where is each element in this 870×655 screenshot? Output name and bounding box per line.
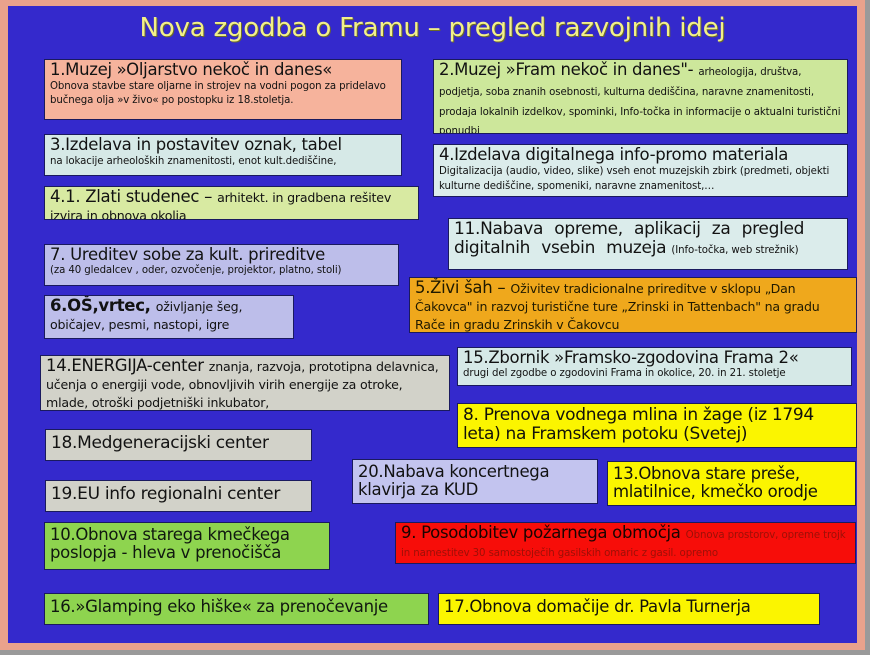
idea-box-11[interactable]: 11.Nabava opreme, aplikacij za pregled d… <box>448 218 848 270</box>
idea-box-9-heading: 9. Posodobitev požarnega območja <box>401 523 681 542</box>
idea-box-1-sub: Obnova stavbe stare oljarne in strojev n… <box>50 80 396 108</box>
idea-box-13-heading: 13.Obnova stare preše, mlatilnice, kmečk… <box>613 464 818 501</box>
idea-box-15-heading: 15.Zbornik »Framsko-zgodovina Frama 2« <box>463 348 799 367</box>
idea-box-7-heading: 7. Ureditev sobe za kult. prireditve <box>50 245 325 264</box>
idea-box-2[interactable]: 2.Muzej »Fram nekoč in danes"- arheologi… <box>433 59 848 134</box>
idea-box-20[interactable]: 20.Nabava koncertnega klavirja za KUD <box>352 459 598 504</box>
idea-box-5-heading: 5.Živi šah – <box>415 278 505 297</box>
slide-board: Nova zgodba o Framu – pregled razvojnih … <box>8 6 857 643</box>
idea-box-4-sub: Digitalizacija (audio, video, slike) vse… <box>439 165 842 195</box>
idea-box-3-heading: 3.Izdelava in postavitev oznak, tabel <box>50 135 342 154</box>
idea-box-17[interactable]: 17.Obnova domačije dr. Pavla Turnerja <box>438 593 820 625</box>
idea-box-8[interactable]: 8. Prenova vodnega mlina in žage (iz 179… <box>457 403 857 448</box>
idea-box-16-heading: 16.»Glamping eko hiške« za prenočevanje <box>50 597 388 616</box>
idea-box-2-heading: 2.Muzej »Fram nekoč in danes"- <box>439 60 693 79</box>
idea-box-19-heading: 19.EU info regionalni center <box>51 484 280 504</box>
idea-box-16[interactable]: 16.»Glamping eko hiške« za prenočevanje <box>44 593 429 625</box>
idea-box-5[interactable]: 5.Živi šah – Oživitev tradicionalne prir… <box>409 277 857 333</box>
idea-box-6[interactable]: 6.OŠ,vrtec, oživljanje šeg, običajev, pe… <box>44 295 294 339</box>
idea-box-14[interactable]: 14.ENERGIJA-center znanja, razvoja, prot… <box>40 355 450 411</box>
idea-box-15-sub: drugi del zgodbe o zgodovini Frama in ok… <box>463 368 846 379</box>
idea-box-1-heading: 1.Muzej »Oljarstvo nekoč in danes« <box>50 60 332 79</box>
idea-box-20-heading: 20.Nabava koncertnega klavirja za KUD <box>358 462 549 499</box>
idea-box-7[interactable]: 7. Ureditev sobe za kult. prireditve (za… <box>44 244 399 286</box>
idea-box-13[interactable]: 13.Obnova stare preše, mlatilnice, kmečk… <box>607 461 856 506</box>
idea-box-7-sub: (za 40 gledalcev , oder, ozvočenje, proj… <box>50 265 393 276</box>
idea-box-17-heading: 17.Obnova domačije dr. Pavla Turnerja <box>444 597 751 616</box>
idea-box-19[interactable]: 19.EU info regionalni center <box>45 480 312 512</box>
idea-box-4-1-heading: 4.1. Zlati studenec – <box>50 187 212 206</box>
idea-box-1[interactable]: 1.Muzej »Oljarstvo nekoč in danes« Obnov… <box>44 59 402 120</box>
idea-box-18-heading: 18.Medgeneracijski center <box>51 433 269 453</box>
slide-canvas: Nova zgodba o Framu – pregled razvojnih … <box>0 0 870 655</box>
idea-box-14-heading: 14.ENERGIJA-center <box>46 356 204 375</box>
page-title: Nova zgodba o Framu – pregled razvojnih … <box>8 13 857 43</box>
idea-box-18[interactable]: 18.Medgeneracijski center <box>45 429 312 461</box>
idea-box-3-sub: na lokacije arheoloških znamenitosti, en… <box>50 156 396 167</box>
idea-box-9[interactable]: 9. Posodobitev požarnega območja Obnova … <box>395 522 856 564</box>
idea-box-4-heading: 4.Izdelava digitalnega info-promo materi… <box>439 145 788 164</box>
idea-box-8-heading: 8. Prenova vodnega mlina in žage (iz 179… <box>463 405 814 444</box>
idea-box-10-heading: 10.Obnova starega kmečkega poslopja - hl… <box>50 525 290 562</box>
idea-box-3[interactable]: 3.Izdelava in postavitev oznak, tabel na… <box>44 134 402 176</box>
idea-box-4-1[interactable]: 4.1. Zlati studenec – arhitekt. in gradb… <box>44 186 419 220</box>
idea-box-15[interactable]: 15.Zbornik »Framsko-zgodovina Frama 2« d… <box>457 347 852 386</box>
idea-box-4[interactable]: 4.Izdelava digitalnega info-promo materi… <box>433 144 848 197</box>
idea-box-11-sub: (Info-točka, web strežnik) <box>671 245 798 256</box>
idea-box-6-heading: 6.OŠ,vrtec, <box>50 296 151 315</box>
idea-box-10[interactable]: 10.Obnova starega kmečkega poslopja - hl… <box>44 522 330 570</box>
